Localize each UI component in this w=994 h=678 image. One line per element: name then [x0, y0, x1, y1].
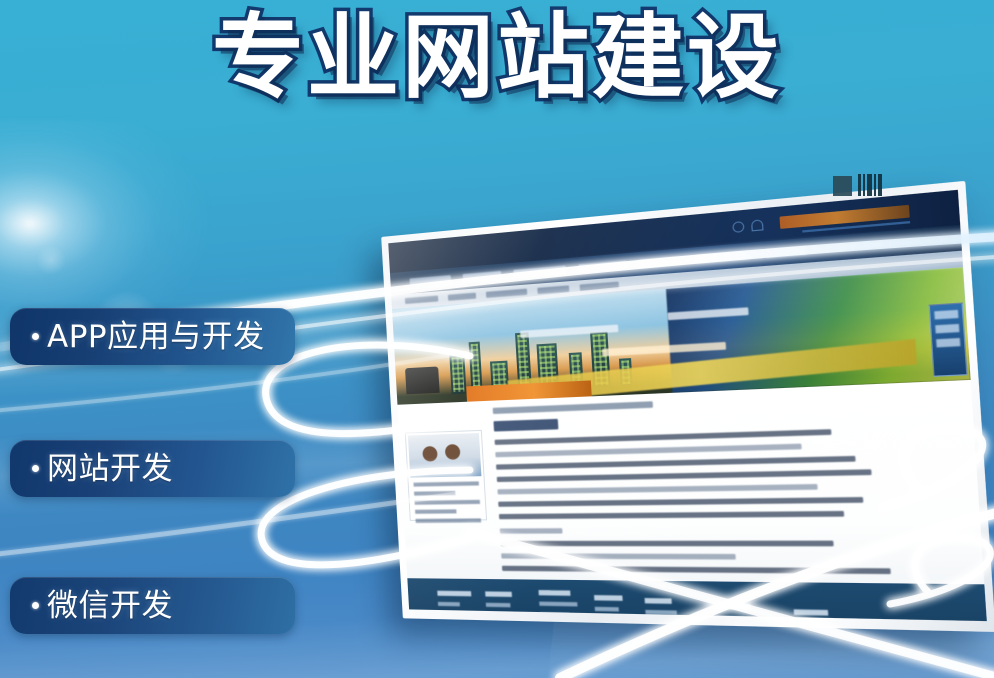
body-text [497, 484, 817, 494]
body-text [497, 469, 872, 482]
site-content [397, 380, 984, 584]
monitor-bezel [381, 181, 994, 632]
footer-heading [594, 595, 623, 601]
poster-canvas: 专业网站建设 [0, 0, 994, 678]
nav-item [696, 251, 750, 264]
profile-line [414, 491, 455, 496]
bullet-dot-icon [32, 602, 39, 609]
body-text [495, 444, 801, 458]
footer-link [539, 602, 577, 607]
website-screenshot [388, 190, 987, 621]
profile-line [415, 500, 481, 505]
profile-line [415, 509, 456, 513]
user-icon [751, 219, 764, 231]
body-text [495, 429, 832, 445]
body-text [500, 528, 563, 533]
sidecard-line [936, 338, 960, 347]
footer-heading [645, 598, 672, 604]
breadcrumb [493, 401, 653, 414]
footer-link [540, 612, 570, 617]
footer-heading [794, 609, 829, 615]
body-text [501, 553, 736, 559]
hero-sidecard [929, 302, 968, 376]
footer-heading [437, 591, 471, 597]
service-item-label: APP应用与开发 [47, 320, 265, 354]
footer-heading [539, 590, 571, 596]
profile-card [405, 430, 487, 521]
barcode-block [833, 176, 852, 196]
footer-link [595, 617, 626, 621]
avatar [408, 433, 482, 478]
service-item-label: 网站开发 [47, 452, 173, 486]
sidecard-line [935, 324, 959, 334]
barcode-bar [874, 174, 876, 196]
nav-item [410, 275, 452, 286]
footer-column [485, 591, 513, 613]
body-text [499, 511, 844, 519]
nav-item [513, 266, 566, 279]
subnav-item [448, 293, 476, 301]
site-logo [780, 205, 910, 229]
chimney-shape [405, 366, 440, 394]
service-item-wechat[interactable]: 微信开发 [10, 577, 295, 634]
footer-link [595, 607, 619, 612]
user-icon [732, 221, 744, 233]
service-item-label: 微信开发 [47, 589, 173, 623]
body-text [496, 456, 856, 470]
bullet-dot-icon [32, 465, 39, 472]
page-title-text: 专业网站建设 [212, 4, 782, 112]
footer-column [794, 609, 830, 621]
barcode-bar [858, 174, 861, 196]
nav-item [766, 246, 808, 258]
footer-link [438, 602, 460, 606]
service-item-app[interactable]: APP应用与开发 [10, 308, 295, 365]
body-text [498, 497, 863, 507]
barcode-bar [863, 174, 865, 196]
barcode-bar [878, 174, 882, 196]
nav-item [639, 256, 680, 268]
building-shape [449, 355, 466, 394]
sidecard-line [934, 310, 958, 320]
profile-line [413, 481, 478, 486]
profile-line [416, 518, 482, 523]
footer-link [645, 610, 677, 615]
subnav-item [580, 282, 619, 291]
body-text [500, 541, 833, 547]
footer-column [539, 590, 580, 621]
bullet-dot-icon [32, 333, 39, 340]
footer-heading [485, 591, 512, 597]
barcode-mark [833, 173, 888, 196]
nav-item [578, 261, 626, 273]
article-heading [493, 419, 558, 432]
footer-column [645, 598, 679, 621]
barcode-bar [867, 174, 872, 196]
subnav-item [486, 289, 527, 298]
site-footer [407, 578, 986, 621]
page-title: 专业网站建设 [0, 4, 994, 112]
service-item-website[interactable]: 网站开发 [10, 440, 295, 497]
footer-heading [715, 603, 750, 609]
nav-item [463, 271, 502, 282]
footer-link [486, 603, 511, 608]
footer-column [715, 603, 752, 621]
footer-link [716, 616, 744, 621]
footer-column [594, 595, 627, 621]
subnav-item [405, 295, 438, 304]
body-text [502, 566, 891, 574]
subnav-item [537, 285, 569, 294]
desktop-monitor [381, 181, 994, 632]
footer-column [437, 591, 472, 613]
lens-flare-bead [36, 245, 66, 275]
